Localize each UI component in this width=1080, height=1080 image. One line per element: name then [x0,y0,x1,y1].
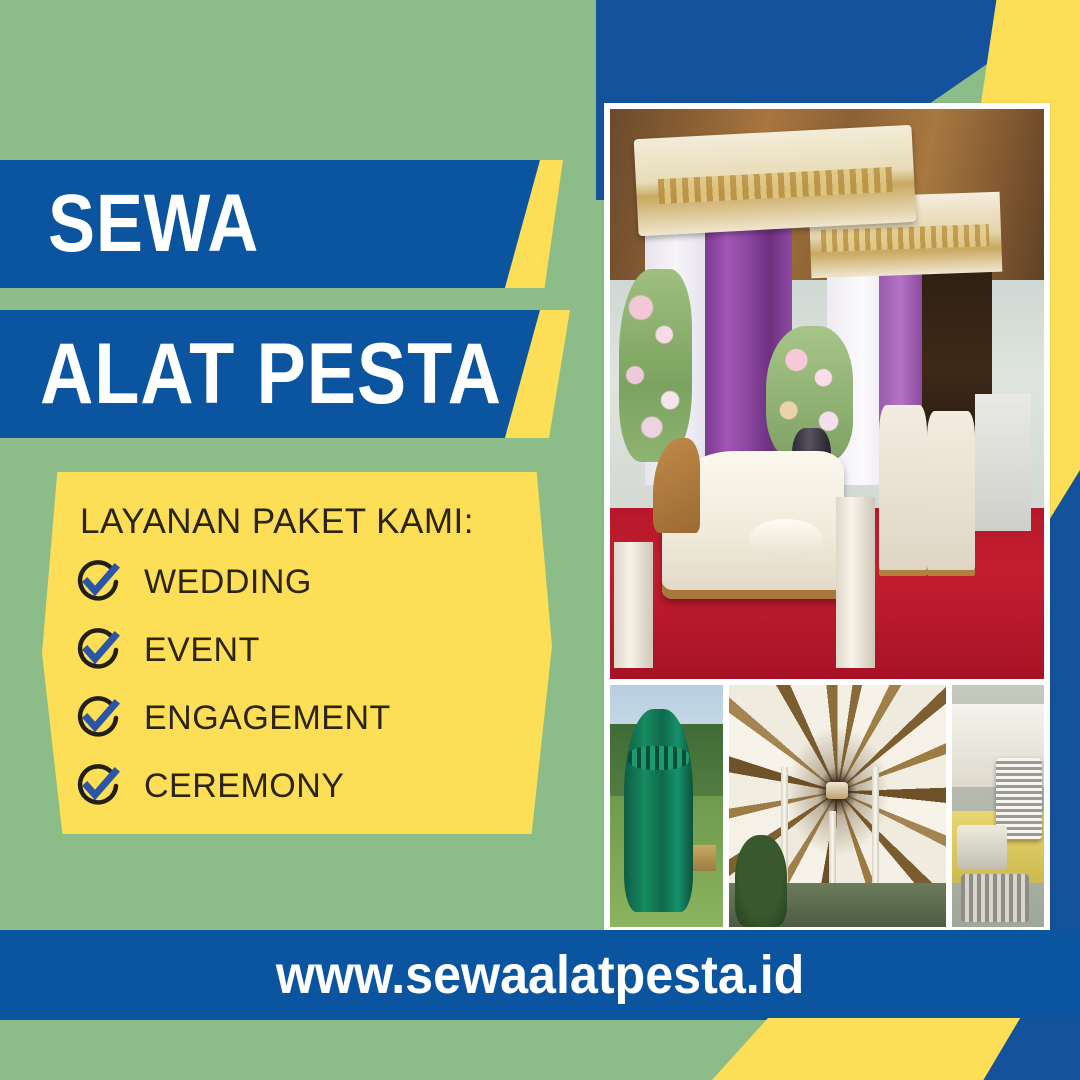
website-url[interactable]: www.sewaalatpesta.id [276,944,804,1006]
check-circle-icon [74,626,122,674]
services-list: WEDDING EVENT ENGAGEME [42,548,552,820]
headline-line-1: SEWA [48,177,259,271]
service-label: ENGAGEMENT [144,699,391,738]
headline-banner-secondary: ALAT PESTA [0,310,540,438]
check-circle-icon [74,694,122,742]
service-label: EVENT [144,631,260,670]
service-item-wedding[interactable]: WEDDING [66,548,552,616]
service-item-engagement[interactable]: ENGAGEMENT [66,684,552,752]
check-circle-icon [74,558,122,606]
services-card: LAYANAN PAKET KAMI: WEDDING [42,472,552,834]
website-url-bar: www.sewaalatpesta.id [0,930,1080,1020]
headline-line-2: ALAT PESTA [40,325,502,424]
canopy-ceiling-drapery-photo [729,685,946,927]
headline-banner-primary: SEWA [0,160,540,288]
service-label: WEDDING [144,563,312,602]
collage-row [610,685,1044,927]
service-item-event[interactable]: EVENT [66,616,552,684]
service-item-ceremony[interactable]: CEREMONY [66,752,552,820]
services-title: LAYANAN PAKET KAMI: [80,502,552,542]
photo-collage-frame [604,103,1050,933]
catering-table-plates-photo [952,685,1044,927]
promotional-poster: SEWA ALAT PESTA LAYANAN PAKET KAMI: WEDD… [0,0,1080,1080]
check-circle-icon [74,762,122,810]
green-draped-tent-photo [610,685,723,927]
service-label: CEREMONY [144,767,344,806]
wedding-stage-pelaminan-photo [610,109,1044,679]
